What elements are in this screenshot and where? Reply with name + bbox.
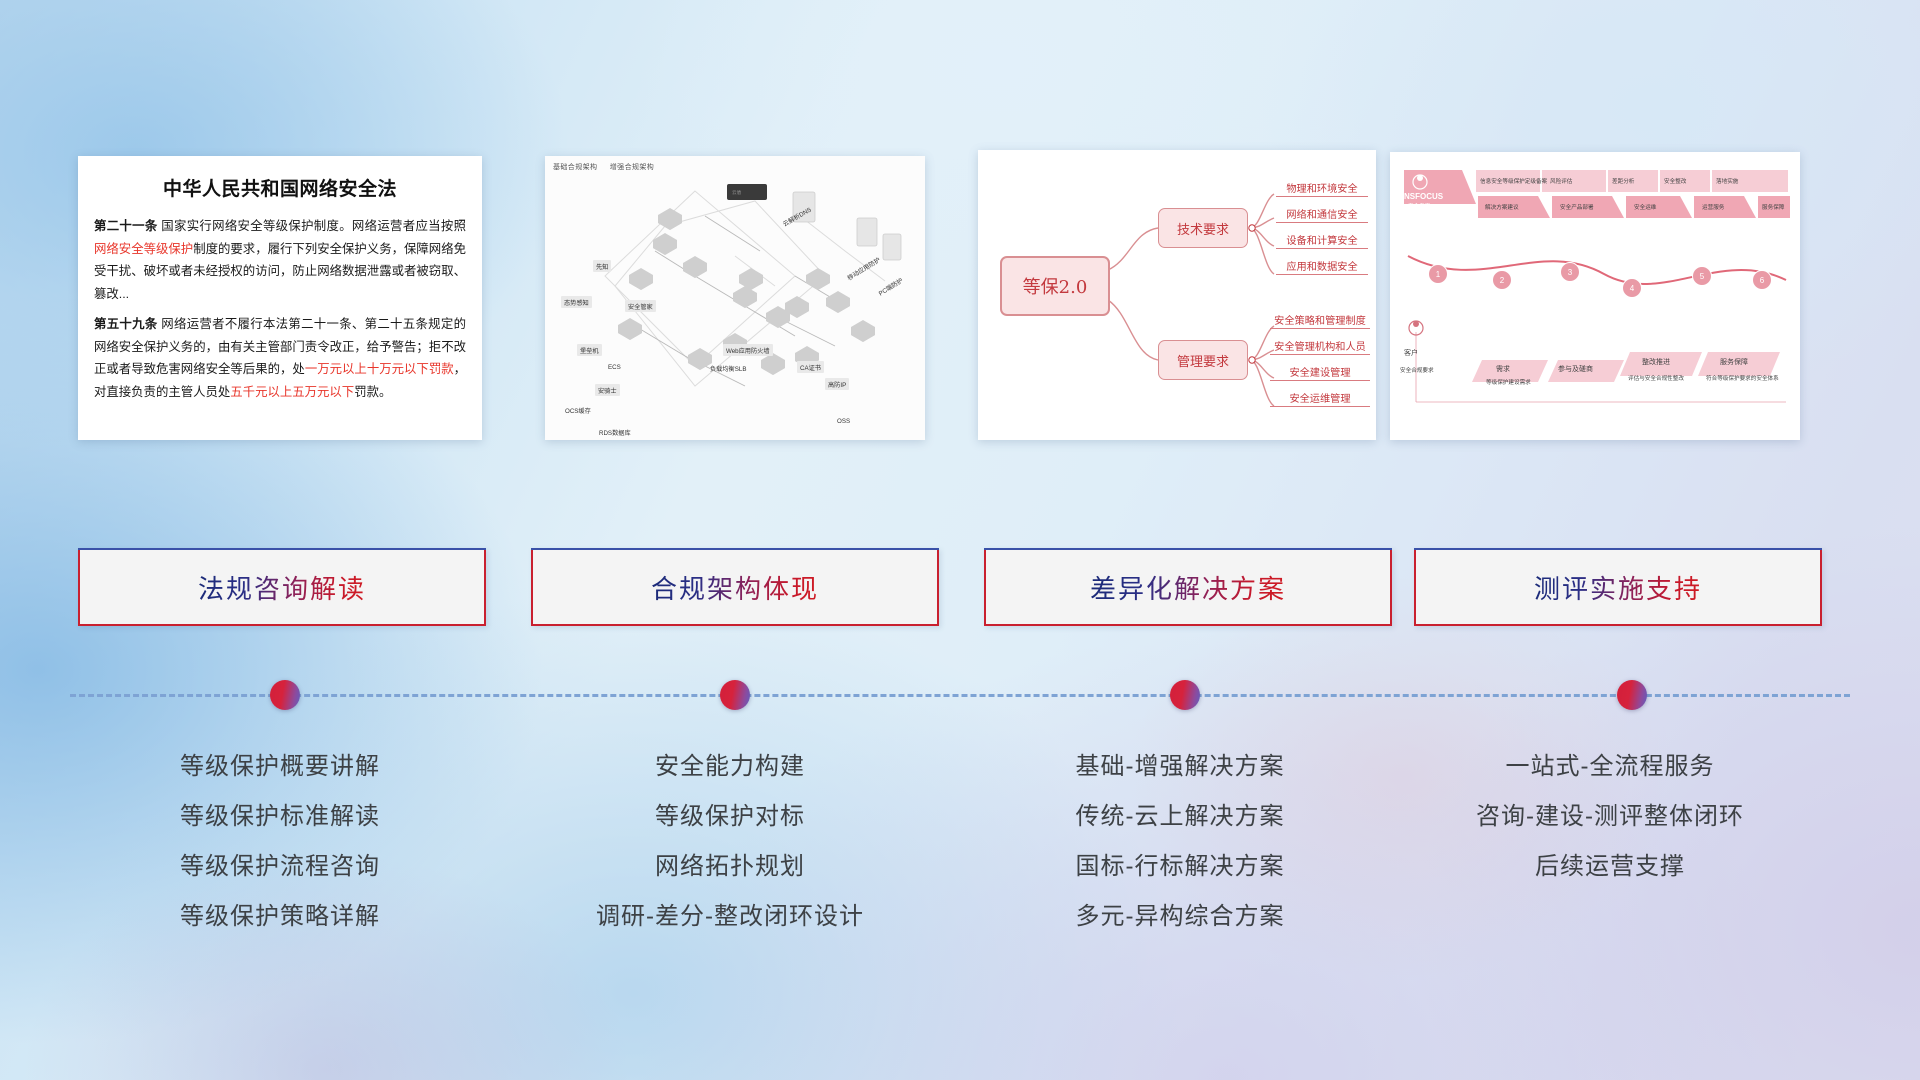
roadmap-stage-label: 安全产品部署 (1560, 203, 1594, 211)
roadmap-step-number: 6 (1752, 270, 1772, 290)
mindmap-leaf: 网络和通信安全 (1276, 206, 1368, 223)
timeline (70, 694, 1850, 697)
pillar-title-0: 法规咨询解读 (198, 569, 366, 606)
roadmap-stage-label: 服务保障 (1762, 203, 1784, 211)
arch-node-label: 先知 (593, 260, 611, 272)
list-item: 等级保护策略详解 (65, 892, 495, 942)
arch-node-label: 堡垒机 (577, 344, 602, 356)
pillar-title-2: 差异化解决方案 (1090, 569, 1286, 606)
arch-node-label: 安全管家 (625, 300, 656, 312)
roadmap-customer-label: 客户 (1404, 348, 1418, 358)
list-item: 网络拓扑规划 (515, 842, 945, 892)
roadmap-top-label: 风险评估 (1550, 177, 1572, 185)
roadmap-bottom-label: 整改推进 (1642, 357, 1670, 367)
roadmap-bottom-sub: 评估与安全合规性整改 (1628, 374, 1684, 382)
list-item: 调研-差分-整改闭环设计 (515, 892, 945, 942)
mindmap-branch-mgmt: 管理要求 (1158, 340, 1248, 380)
list-item: 等级保护对标 (515, 792, 945, 842)
list-item: 等级保护标准解读 (65, 792, 495, 842)
roadmap-bottom-sub: 安全合规要求 (1400, 366, 1434, 374)
arch-node-label: OCS缓存 (565, 406, 591, 415)
pillar-box-2[interactable]: 差异化解决方案 (984, 548, 1392, 626)
pillar-items-2: 基础-增强解决方案 传统-云上解决方案 国标-行标解决方案 多元-异构综合方案 (965, 742, 1395, 942)
article-59-highlight-b: 五千元以上五万元以下 (230, 385, 354, 399)
mindmap-leaf: 安全运维管理 (1270, 390, 1370, 407)
pillar-items-3: 一站式-全流程服务 咨询-建设-测评整体闭环 后续运营支撑 (1395, 742, 1825, 892)
arch-node-label: 安骑士 (595, 384, 620, 396)
timeline-dot-3[interactable] (1617, 680, 1647, 710)
article-21-highlight: 网络安全等级保护 (94, 242, 193, 256)
list-item: 后续运营支撑 (1395, 842, 1825, 892)
mindmap-leaf: 应用和数据安全 (1276, 258, 1368, 275)
roadmap-step-number: 3 (1560, 262, 1580, 282)
mindmap-leaf: 物理和环境安全 (1276, 180, 1368, 197)
mindmap-leaf: 安全建设管理 (1270, 364, 1370, 381)
mindmap-root-node: 等保2.0 (1000, 256, 1110, 316)
mindmap-leaf: 设备和计算安全 (1276, 232, 1368, 249)
list-item: 咨询-建设-测评整体闭环 (1395, 792, 1825, 842)
arch-connector-lines: 云盾 (545, 156, 925, 440)
article-59-highlight-a: 一万元以上十万元以下罚款 (305, 362, 454, 376)
list-item: 多元-异构综合方案 (965, 892, 1395, 942)
timeline-dashed-line (70, 694, 1850, 697)
pillar-title-3: 测评实施支持 (1534, 569, 1702, 606)
list-item: 一站式-全流程服务 (1395, 742, 1825, 792)
roadmap-brand-sub: 安全专家 (1408, 202, 1430, 210)
arch-node-label: 态势感知 (561, 296, 592, 308)
roadmap-step-number: 2 (1492, 270, 1512, 290)
arch-node-label: OSS (837, 418, 850, 425)
roadmap-stage-label: 运营服务 (1702, 203, 1724, 211)
arch-node-label: 负载均衡SLB (710, 364, 746, 373)
law-card-title: 中华人民共和国网络安全法 (94, 174, 466, 201)
list-item: 国标-行标解决方案 (965, 842, 1395, 892)
article-21-label: 第二十一条 (94, 219, 158, 233)
pillar-box-3[interactable]: 测评实施支持 (1414, 548, 1822, 626)
arch-node-label: Web应用防火墙 (723, 344, 773, 356)
roadmap-step-number: 4 (1622, 278, 1642, 298)
law-article-59: 第五十九条 网络运营者不履行本法第二十一条、第二十五条规定的网络安全保护义务的，… (94, 313, 466, 403)
law-text-card: 中华人民共和国网络安全法 第二十一条 国家实行网络安全等级保护制度。网络运营者应… (78, 156, 482, 440)
list-item: 基础-增强解决方案 (965, 742, 1395, 792)
list-item: 等级保护流程咨询 (65, 842, 495, 892)
roadmap-stage-label: 解决方案建议 (1485, 203, 1519, 211)
article-59-label: 第五十九条 (94, 317, 158, 331)
roadmap-bottom-sub: 符合等级保护要求的安全体系 (1706, 374, 1779, 382)
roadmap-bottom-label: 参与及磋商 (1558, 364, 1593, 374)
roadmap-bottom-label: 服务保障 (1720, 357, 1748, 367)
roadmap-step-number: 5 (1692, 266, 1712, 286)
roadmap-card: NSFOCUS 安全专家 信息安全等级保护定级备案 风险评估 差距分析 安全整改… (1390, 152, 1800, 440)
roadmap-graphics (1390, 152, 1800, 440)
pillar-items-1: 安全能力构建 等级保护对标 网络拓扑规划 调研-差分-整改闭环设计 (515, 742, 945, 942)
timeline-dot-0[interactable] (270, 680, 300, 710)
arch-node-label: ECS (608, 364, 621, 371)
roadmap-top-label: 差距分析 (1612, 177, 1634, 185)
mindmap-branch-tech: 技术要求 (1158, 208, 1248, 248)
pillar-items-0: 等级保护概要讲解 等级保护标准解读 等级保护流程咨询 等级保护策略详解 (65, 742, 495, 942)
arch-node-label: CA证书 (797, 361, 824, 373)
article-21-text-a: 国家实行网络安全等级保护制度。网络运营者应当按照 (158, 219, 466, 233)
pillar-box-0[interactable]: 法规咨询解读 (78, 548, 486, 626)
architecture-diagram-card: 基础合规架构 增强合规架构 (545, 156, 925, 440)
roadmap-top-label: 落地实施 (1716, 177, 1738, 185)
roadmap-top-label: 安全整改 (1664, 177, 1686, 185)
mindmap-card: 等保2.0 技术要求 管理要求 物理和环境安全 网络和通信安全 设备和计算安全 … (978, 150, 1376, 440)
roadmap-step-number: 1 (1428, 264, 1448, 284)
list-item: 等级保护概要讲解 (65, 742, 495, 792)
list-item: 传统-云上解决方案 (965, 792, 1395, 842)
roadmap-brand: NSFOCUS (1404, 192, 1443, 201)
roadmap-bottom-label: 需求 (1496, 364, 1510, 374)
arch-node-label: RDS数据库 (599, 428, 631, 437)
roadmap-bottom-sub: 等级保护建设需求 (1486, 378, 1531, 386)
article-59-text-c: 罚款。 (354, 385, 391, 399)
roadmap-stage-label: 安全运维 (1634, 203, 1656, 211)
list-item: 安全能力构建 (515, 742, 945, 792)
timeline-dot-1[interactable] (720, 680, 750, 710)
pillar-title-1: 合规架构体现 (651, 569, 819, 606)
mindmap-leaf: 安全策略和管理制度 (1270, 312, 1370, 329)
pillar-box-1[interactable]: 合规架构体现 (531, 548, 939, 626)
timeline-dot-2[interactable] (1170, 680, 1200, 710)
mindmap-leaf: 安全管理机构和人员 (1270, 338, 1370, 355)
roadmap-top-label: 信息安全等级保护定级备案 (1480, 177, 1547, 185)
arch-node-label: 高防IP (825, 378, 849, 390)
law-article-21: 第二十一条 国家实行网络安全等级保护制度。网络运营者应当按照网络安全等级保护制度… (94, 215, 466, 305)
svg-text:云盾: 云盾 (732, 189, 742, 196)
